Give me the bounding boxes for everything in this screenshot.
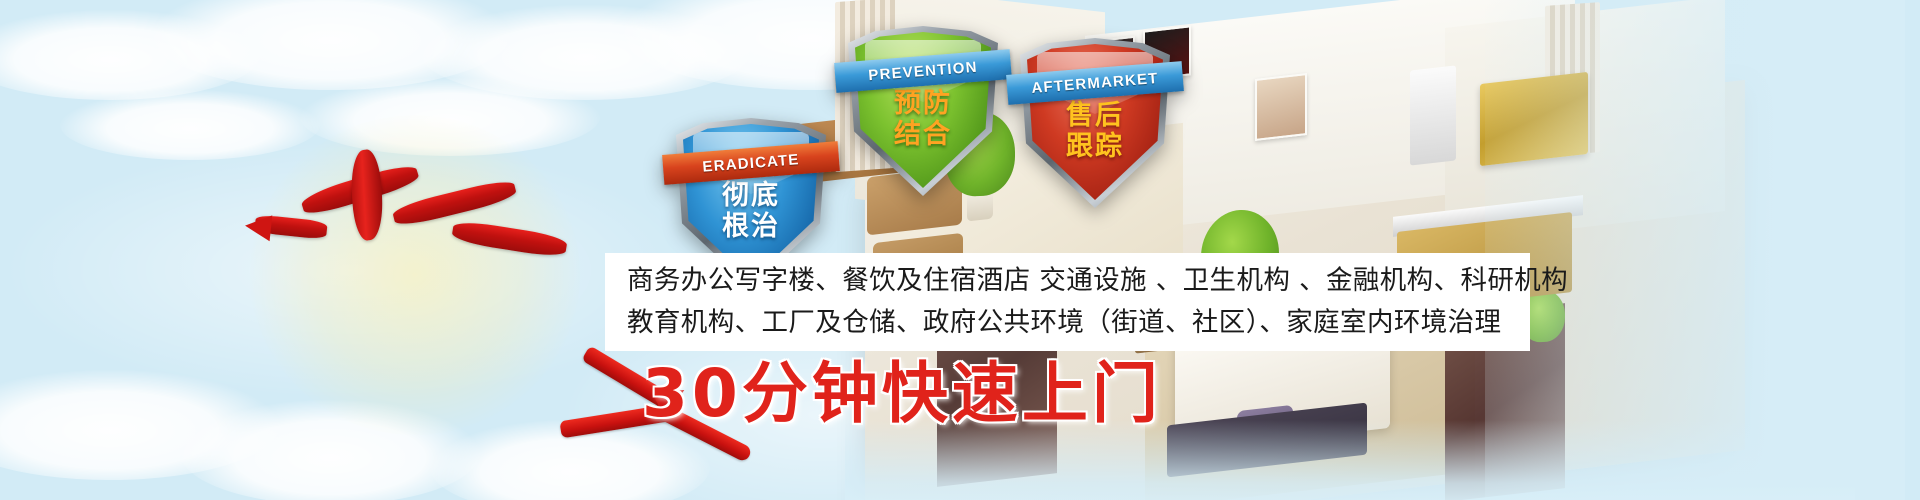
service-scope-panel: 商务办公写字楼、餐饮及住宿酒店 交通设施 、卫生机构 、金融机构、科研机构 教育…: [605, 253, 1530, 351]
service-scope-line-1: 商务办公写字楼、餐饮及住宿酒店 交通设施 、卫生机构 、金融机构、科研机构: [627, 260, 1530, 302]
shield-badge-aftermarket: 售后 跟踪 AFTERMARKET: [1020, 38, 1170, 208]
shield-chinese-label: 售后 跟踪: [1020, 100, 1170, 162]
shield-banner-text: AFTERMARKET: [1031, 70, 1159, 97]
headline-text: 30分钟快速上门: [642, 358, 1162, 430]
gold-numeral-three: 3: [280, 105, 580, 435]
shield-cn-line-2: 根治: [676, 211, 826, 242]
shield-badge-prevention: 预防 结合 PREVENTION: [848, 26, 998, 196]
numeral-three-glyph: 3: [280, 105, 580, 405]
service-scope-line-2: 教育机构、工厂及仓储、政府公共环境（街道、社区）、家庭室内环境治理: [627, 302, 1530, 344]
shield-cn-line-1: 预防: [848, 88, 998, 119]
shield-cn-line-2: 结合: [848, 119, 998, 150]
shield-cn-line-2: 跟踪: [1020, 131, 1170, 162]
shield-banner-text: PREVENTION: [868, 58, 979, 84]
shield-banner-text: ERADICATE: [702, 151, 800, 176]
shield-cn-line-1: 售后: [1020, 100, 1170, 131]
promo-banner: 3 彻底 根治 ERADICATE 预防 结合 PREVENT: [0, 0, 1920, 500]
shield-chinese-label: 彻底 根治: [676, 180, 826, 242]
shield-chinese-label: 预防 结合: [848, 88, 998, 150]
red-ribbon-arrowhead-icon: [244, 213, 273, 242]
shield-cn-line-1: 彻底: [676, 180, 826, 211]
